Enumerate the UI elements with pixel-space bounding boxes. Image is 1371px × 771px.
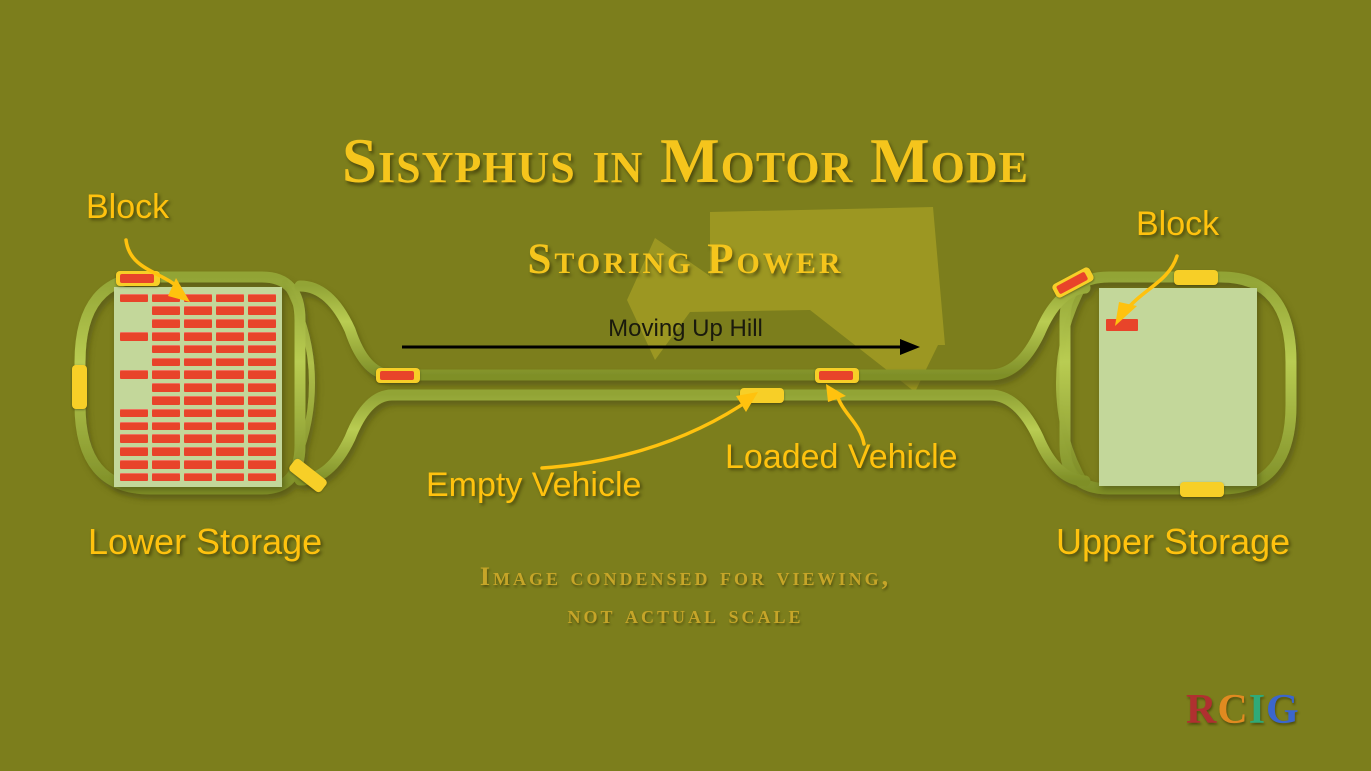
storage-block xyxy=(216,434,244,443)
label-block-upper: Block xyxy=(1136,207,1219,241)
storage-block xyxy=(152,358,180,367)
storage-block xyxy=(152,434,180,443)
storage-block xyxy=(248,370,276,379)
storage-block xyxy=(120,370,148,379)
storage-block xyxy=(248,383,276,392)
vehicle-empty-upper-loop-bottom[interactable] xyxy=(1180,482,1224,497)
storage-block xyxy=(216,345,244,354)
callout-arrow-block-left xyxy=(120,230,230,310)
storage-block xyxy=(184,345,212,354)
storage-block xyxy=(248,358,276,367)
storage-block xyxy=(120,473,148,482)
storage-block xyxy=(248,447,276,456)
storage-block xyxy=(152,460,180,469)
storage-block xyxy=(152,345,180,354)
storage-block xyxy=(120,434,148,443)
logo-letter-i: I xyxy=(1249,687,1266,733)
label-upper-storage: Upper Storage xyxy=(1056,524,1290,560)
storage-block xyxy=(216,396,244,405)
storage-block xyxy=(248,409,276,418)
storage-block xyxy=(184,434,212,443)
storage-block xyxy=(248,473,276,482)
storage-block xyxy=(120,422,148,431)
storage-block xyxy=(216,383,244,392)
scale-disclaimer: Image condensed for viewing, not actual … xyxy=(0,558,1371,633)
diagram-canvas: Sisyphus in Motor Mode Storing Power Mov… xyxy=(0,0,1371,771)
storage-block xyxy=(248,460,276,469)
storage-block xyxy=(248,422,276,431)
storage-block xyxy=(184,422,212,431)
label-empty-vehicle: Empty Vehicle xyxy=(426,468,641,502)
vehicle-loaded-main-left[interactable] xyxy=(376,368,420,383)
label-loaded-vehicle: Loaded Vehicle xyxy=(725,440,958,474)
block-on-vehicle xyxy=(819,371,853,380)
scale-disclaimer-line1: Image condensed for viewing, xyxy=(0,558,1371,596)
storage-block xyxy=(248,306,276,315)
block-on-vehicle xyxy=(380,371,414,380)
storage-block xyxy=(248,396,276,405)
storage-block xyxy=(184,383,212,392)
storage-block xyxy=(120,447,148,456)
rcig-logo[interactable]: RCIG xyxy=(1186,686,1300,734)
logo-letter-g: G xyxy=(1266,687,1300,733)
storage-block xyxy=(216,460,244,469)
storage-block xyxy=(120,460,148,469)
page-title: Sisyphus in Motor Mode xyxy=(0,130,1371,193)
storage-block xyxy=(152,473,180,482)
storage-block xyxy=(248,294,276,303)
vehicle-empty-lower-loop-left[interactable] xyxy=(72,365,87,409)
storage-block xyxy=(152,409,180,418)
label-block-lower: Block xyxy=(86,190,169,224)
storage-block xyxy=(184,473,212,482)
storage-block xyxy=(152,370,180,379)
storage-block xyxy=(152,383,180,392)
storage-block xyxy=(152,396,180,405)
storage-block xyxy=(216,422,244,431)
callout-arrow-block-right xyxy=(1095,250,1195,340)
storage-block xyxy=(184,396,212,405)
storage-block xyxy=(216,370,244,379)
storage-block xyxy=(248,434,276,443)
label-lower-storage: Lower Storage xyxy=(88,524,322,560)
vehicle-loaded-main-right[interactable] xyxy=(815,368,859,383)
storage-block xyxy=(216,409,244,418)
logo-letter-r: R xyxy=(1186,687,1217,733)
storage-block xyxy=(120,409,148,418)
storage-block xyxy=(184,358,212,367)
logo-letter-c: C xyxy=(1217,687,1248,733)
storage-block xyxy=(152,422,180,431)
storage-block xyxy=(248,345,276,354)
storage-block xyxy=(216,358,244,367)
storage-block xyxy=(184,409,212,418)
storage-block xyxy=(184,447,212,456)
storage-block xyxy=(184,460,212,469)
storage-block xyxy=(216,473,244,482)
scale-disclaimer-line2: not actual scale xyxy=(0,596,1371,634)
moving-up-hill-arrow xyxy=(400,335,925,359)
storage-block xyxy=(216,447,244,456)
storage-block xyxy=(152,447,180,456)
storage-block xyxy=(184,370,212,379)
